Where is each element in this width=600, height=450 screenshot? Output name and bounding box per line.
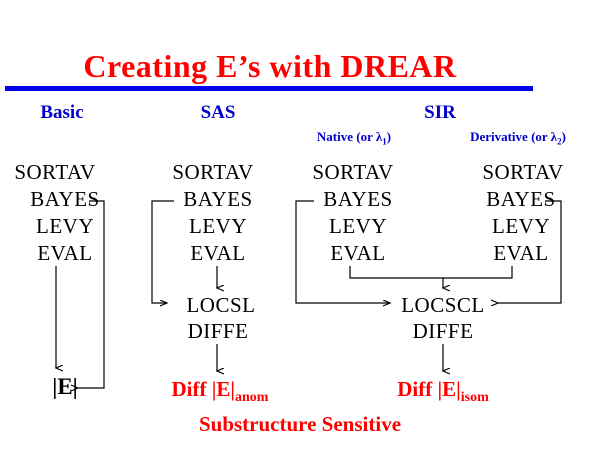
program-sir-native-bayes: BAYES <box>303 187 413 212</box>
column-heading-sir: SIR <box>390 102 490 124</box>
column-subheading-derivative: Derivative (or λ2) <box>444 129 592 147</box>
program-sir-derivative-sortav: SORTAV <box>468 160 578 185</box>
program-basic-eval: EVAL <box>10 241 120 266</box>
column-heading-sas: SAS <box>168 102 268 124</box>
program-sir-native-levy: LEVY <box>303 214 413 239</box>
native-label-text: Native (or λ <box>317 129 382 144</box>
program-basic-sortav: SORTAV <box>0 160 110 185</box>
page-title: Creating E’s with DREAR <box>0 48 540 85</box>
program-sas-bayes: BAYES <box>163 187 273 212</box>
program-sas-locsl: LOCSL <box>166 293 276 318</box>
connector-sir-evals-bridge <box>350 266 512 288</box>
result-sir-subscript: isom <box>461 390 489 405</box>
result-sas-subscript: anom <box>235 390 268 405</box>
program-sas-diffe: DIFFE <box>163 319 273 344</box>
footnote-substructure-sensitive: Substructure Sensitive <box>0 412 600 437</box>
column-heading-basic: Basic <box>12 102 112 124</box>
result-sas-diff-e-anom: Diff |E|anom <box>140 377 300 406</box>
program-sas-eval: EVAL <box>163 241 273 266</box>
derivative-label-text: Derivative (or λ <box>470 129 557 144</box>
result-basic-e: |E| <box>10 374 120 400</box>
program-sir-derivative-eval: EVAL <box>466 241 576 266</box>
derivative-label-tail: ) <box>562 129 566 144</box>
program-sir-derivative-bayes: BAYES <box>466 187 576 212</box>
program-sas-levy: LEVY <box>163 214 273 239</box>
result-sir-main: Diff |E| <box>397 377 461 401</box>
program-sir-locscl: LOCSCL <box>388 293 498 318</box>
program-basic-bayes: BAYES <box>10 187 120 212</box>
result-sas-main: Diff |E| <box>172 377 236 401</box>
native-label-tail: ) <box>387 129 391 144</box>
program-sir-derivative-levy: LEVY <box>466 214 576 239</box>
slide-canvas: Creating E’s with DREAR Basic SAS SIR Na… <box>0 0 600 450</box>
program-sir-native-sortav: SORTAV <box>298 160 408 185</box>
title-underline-rule <box>5 86 533 91</box>
column-subheading-native: Native (or λ1) <box>294 129 414 147</box>
program-sas-sortav: SORTAV <box>158 160 268 185</box>
program-sir-native-eval: EVAL <box>303 241 413 266</box>
program-sir-diffe: DIFFE <box>388 319 498 344</box>
result-sir-diff-e-isom: Diff |E|isom <box>363 377 523 406</box>
program-basic-levy: LEVY <box>10 214 120 239</box>
